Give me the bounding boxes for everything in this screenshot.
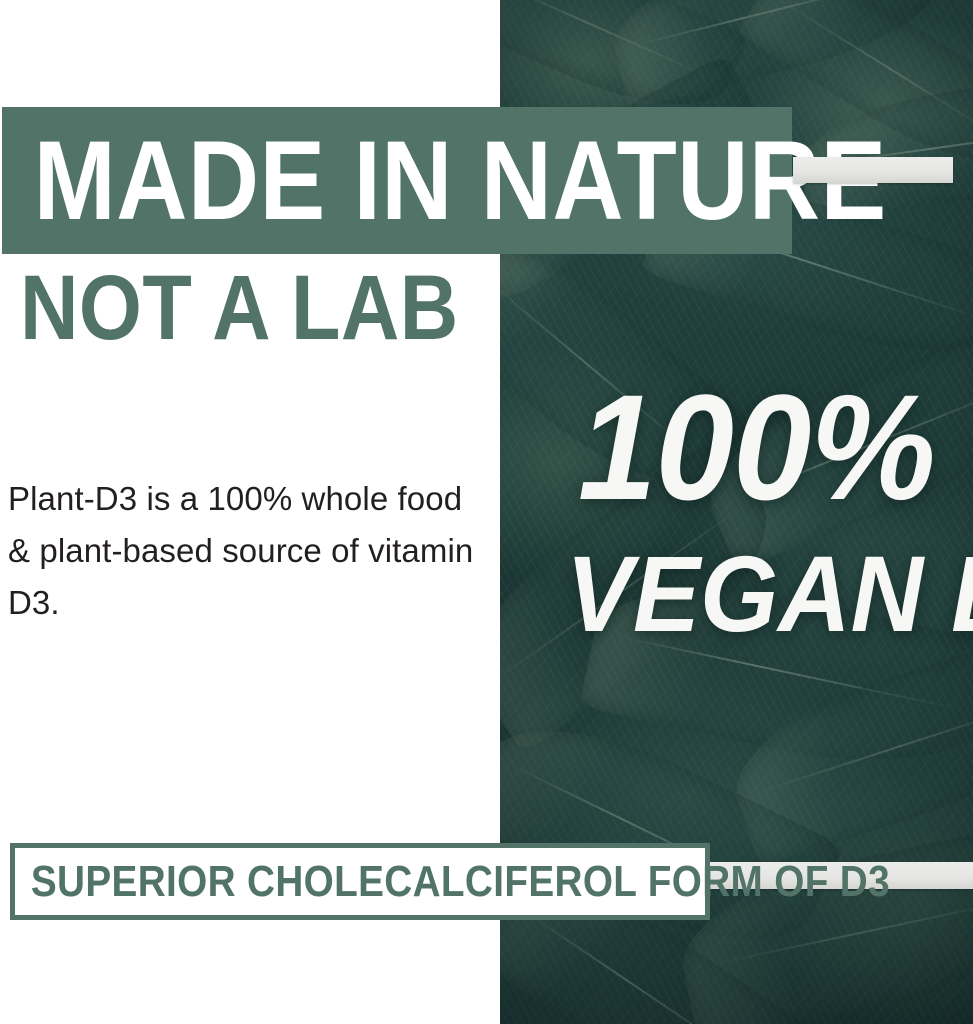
headline-banner: MADE IN NATURE: [2, 107, 792, 254]
headline-secondary: NOT A LAB: [20, 262, 459, 354]
overlay-percent-text: 100%: [578, 372, 935, 522]
ad-canvas: MADE IN NATURE NOT A LAB Plant-D3 is a 1…: [0, 0, 973, 1024]
headline-primary: MADE IN NATURE: [2, 125, 887, 237]
callout-text: SUPERIOR CHOLECALCIFEROL FORM OF D3: [15, 860, 890, 904]
accent-bar-top: [793, 157, 953, 183]
overlay-vegan-claim-text: VEGAN D3: [566, 540, 973, 648]
bottom-white-fill: [0, 920, 500, 1024]
body-paragraph: Plant-D3 is a 100% whole food & plant-ba…: [8, 473, 478, 629]
callout-banner: SUPERIOR CHOLECALCIFEROL FORM OF D3: [10, 843, 710, 920]
